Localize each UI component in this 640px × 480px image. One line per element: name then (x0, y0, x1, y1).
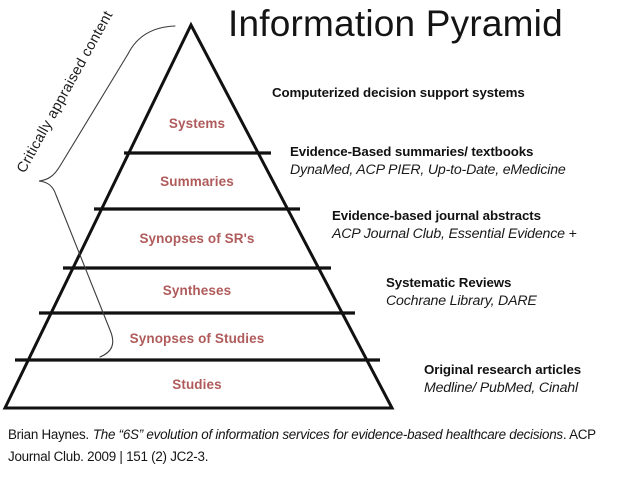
note-syntheses-head: Systematic Reviews (386, 274, 537, 292)
citation-author: Brian Haynes. (8, 427, 89, 442)
note-summaries-sub: DynaMed, ACP PIER, Up-to-Date, eMedicine (290, 161, 566, 180)
tier-label-synopses-of-srs: Synopses of SR's (139, 231, 254, 246)
tier-label-summaries: Summaries (160, 174, 234, 189)
tier-label-syntheses: Syntheses (163, 283, 231, 298)
citation-article-title: The “6S” evolution of information servic… (89, 427, 563, 442)
tier-label-synopses-of-studies: Synopses of Studies (130, 331, 265, 346)
tier-label-systems: Systems (169, 116, 225, 131)
note-systems: Computerized decision support systems (272, 84, 525, 102)
note-summaries: Evidence-Based summaries/ textbooks Dyna… (290, 143, 566, 180)
tier-label-studies: Studies (172, 377, 221, 392)
note-systems-head: Computerized decision support systems (272, 84, 525, 102)
note-syntheses-sub: Cochrane Library, DARE (386, 292, 537, 311)
slide-canvas: Information Pyramid Systems Summaries Sy… (0, 0, 640, 480)
note-synopses-of-srs-head: Evidence-based journal abstracts (332, 207, 577, 225)
note-studies-head: Original research articles (424, 361, 581, 379)
note-studies: Original research articles Medline/ PubM… (424, 361, 581, 398)
note-synopses-of-srs-sub: ACP Journal Club, Essential Evidence + (332, 225, 577, 244)
note-syntheses: Systematic Reviews Cochrane Library, DAR… (386, 274, 537, 311)
citation: Brian Haynes.The “6S” evolution of infor… (8, 424, 608, 467)
note-summaries-head: Evidence-Based summaries/ textbooks (290, 143, 566, 161)
note-studies-sub: Medline/ PubMed, Cinahl (424, 379, 581, 398)
note-synopses-of-srs: Evidence-based journal abstracts ACP Jou… (332, 207, 577, 244)
